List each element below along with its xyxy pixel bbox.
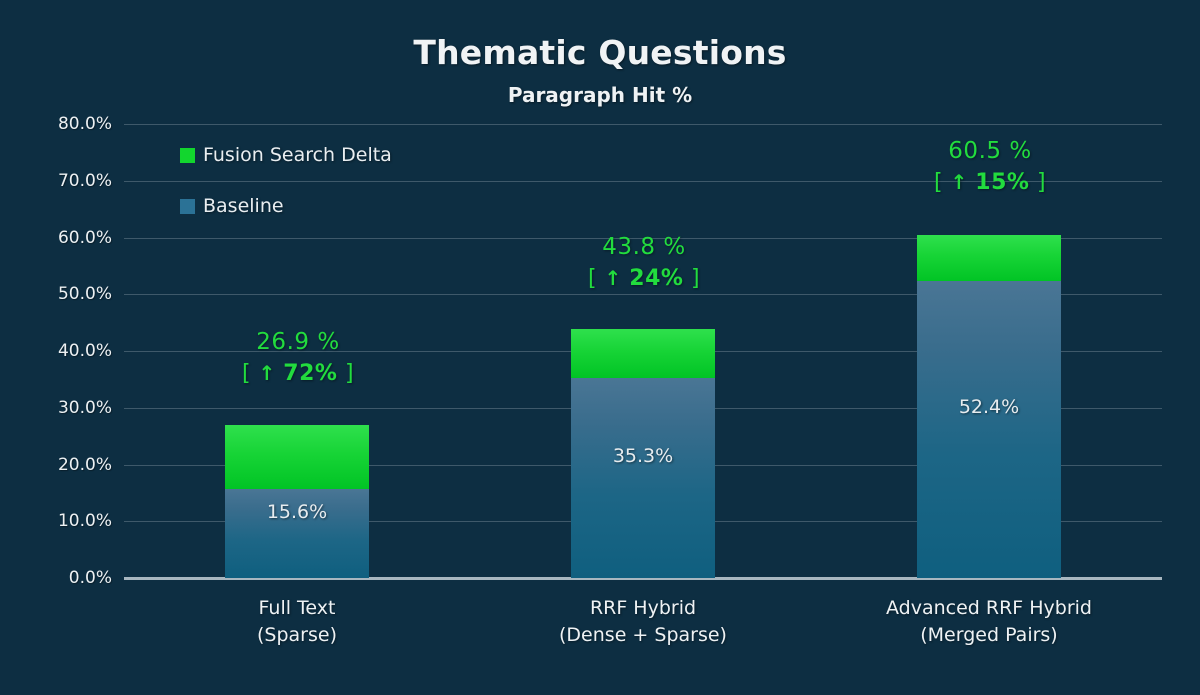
callout-total: 60.5 % (860, 136, 1120, 167)
legend-item-fusion-search-delta[interactable]: Fusion Search Delta (180, 142, 392, 168)
bar-callout: 60.5 % [ ↑ 15% ] (860, 136, 1120, 198)
blue-square-icon (180, 199, 195, 214)
chart-subtitle: Paragraph Hit % (0, 83, 1200, 107)
y-tick-label: 80.0% (22, 114, 112, 134)
bar-segment-delta[interactable] (225, 425, 369, 489)
bar-segment-delta[interactable] (917, 235, 1061, 281)
callout-uplift: [ ↑ 72% ] (168, 358, 428, 389)
gridline (124, 124, 1162, 125)
x-label-line2: (Sparse) (147, 622, 447, 649)
callout-uplift: [ ↑ 24% ] (514, 263, 774, 294)
chart-title: Thematic Questions (0, 33, 1200, 72)
bar-segment-baseline[interactable] (571, 378, 715, 578)
y-tick-label: 40.0% (22, 341, 112, 361)
callout-uplift-value: 15% (975, 170, 1029, 195)
y-tick-label: 60.0% (22, 228, 112, 248)
x-axis-label-1: RRF Hybrid (Dense + Sparse) (493, 595, 793, 649)
bar-callout: 26.9 % [ ↑ 72% ] (168, 327, 428, 389)
bracket-close: ] (1037, 170, 1046, 195)
legend-item-baseline[interactable]: Baseline (180, 193, 392, 219)
callout-uplift-value: 24% (629, 266, 683, 291)
x-label-line2: (Dense + Sparse) (493, 622, 793, 649)
bracket-close: ] (691, 266, 700, 291)
x-label-line2: (Merged Pairs) (839, 622, 1139, 649)
up-arrow-icon: ↑ (259, 361, 276, 385)
bracket-open: [ (242, 361, 251, 386)
x-axis-label-0: Full Text (Sparse) (147, 595, 447, 649)
up-arrow-icon: ↑ (605, 266, 622, 290)
y-tick-label: 50.0% (22, 284, 112, 304)
y-tick-label: 20.0% (22, 455, 112, 475)
legend-item-label: Baseline (203, 195, 284, 217)
bracket-open: [ (934, 170, 943, 195)
y-tick-label: 70.0% (22, 171, 112, 191)
bar-callout: 43.8 % [ ↑ 24% ] (514, 232, 774, 294)
x-axis-label-2: Advanced RRF Hybrid (Merged Pairs) (839, 595, 1139, 649)
x-label-line1: Advanced RRF Hybrid (839, 595, 1139, 622)
y-tick-label: 10.0% (22, 511, 112, 531)
green-square-icon (180, 148, 195, 163)
callout-total: 43.8 % (514, 232, 774, 263)
up-arrow-icon: ↑ (951, 170, 968, 194)
x-label-line1: RRF Hybrid (493, 595, 793, 622)
callout-total: 26.9 % (168, 327, 428, 358)
bar-segment-baseline[interactable] (917, 281, 1061, 578)
x-label-line1: Full Text (147, 595, 447, 622)
callout-uplift: [ ↑ 15% ] (860, 167, 1120, 198)
bar-segment-delta[interactable] (571, 329, 715, 377)
bracket-close: ] (345, 361, 354, 386)
callout-uplift-value: 72% (283, 361, 337, 386)
y-tick-label: 0.0% (22, 568, 112, 588)
y-tick-label: 30.0% (22, 398, 112, 418)
bar-segment-baseline[interactable] (225, 489, 369, 578)
bracket-open: [ (588, 266, 597, 291)
legend: Fusion Search Delta Baseline (180, 142, 392, 244)
legend-item-label: Fusion Search Delta (203, 144, 392, 166)
